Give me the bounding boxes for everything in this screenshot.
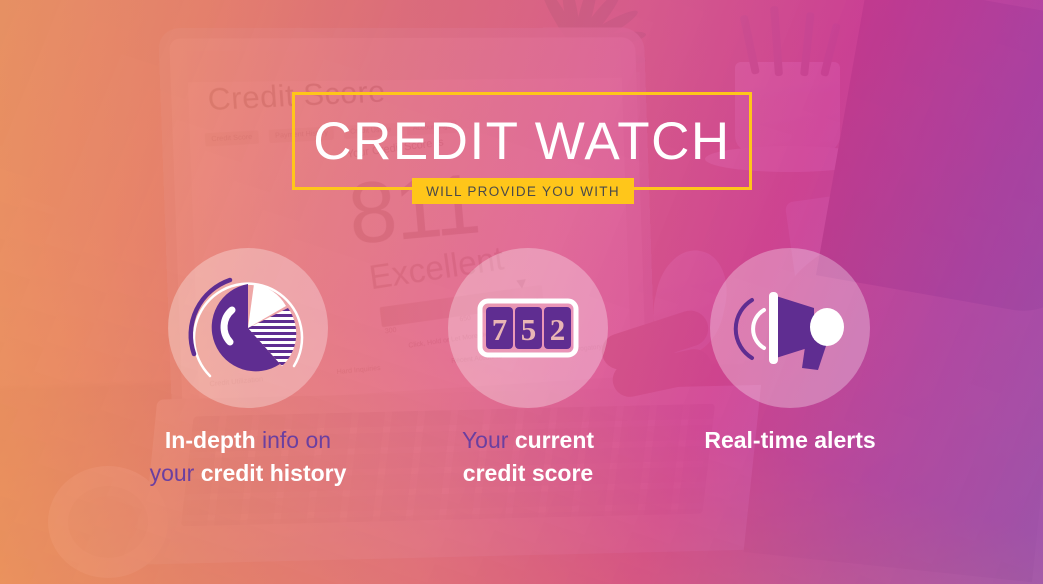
feature-item-alerts: Real-time alerts	[690, 248, 890, 457]
score-digit-1: 7	[492, 312, 508, 347]
feature-list: In-depth info on your credit history 7 5…	[0, 248, 1043, 488]
caption-soft-1: Your	[462, 427, 515, 453]
caption-bold-2: credit history	[201, 460, 347, 486]
caption-bold-1: current	[515, 427, 594, 453]
page-title: CREDIT WATCH	[292, 92, 752, 190]
score-digit-3: 2	[550, 312, 566, 347]
feature-icon-circle: 7 5 2	[448, 248, 608, 408]
megaphone-icon	[710, 248, 870, 408]
subtitle-banner: WILL PROVIDE YOU WITH	[412, 178, 634, 204]
caption-soft-1: info on	[262, 427, 331, 453]
pie-chart-icon	[168, 248, 328, 408]
slide-canvas: Credit Score Credit Score Payment Histor…	[0, 0, 1043, 584]
caption-bold-2: credit score	[463, 460, 593, 486]
caption-soft-2: your	[150, 460, 201, 486]
feature-icon-circle	[710, 248, 870, 408]
feature-caption: Real-time alerts	[690, 424, 890, 457]
caption-bold-1: In-depth	[165, 427, 262, 453]
feature-caption: In-depth info on your credit history	[143, 424, 353, 490]
feature-icon-circle	[168, 248, 328, 408]
feature-item-credit-score: 7 5 2 Your current credit score	[428, 248, 628, 490]
feature-item-credit-history: In-depth info on your credit history	[143, 248, 353, 490]
credit-score-digits-icon: 7 5 2	[448, 248, 608, 408]
feature-caption: Your current credit score	[428, 424, 628, 490]
score-digit-2: 5	[521, 312, 537, 347]
